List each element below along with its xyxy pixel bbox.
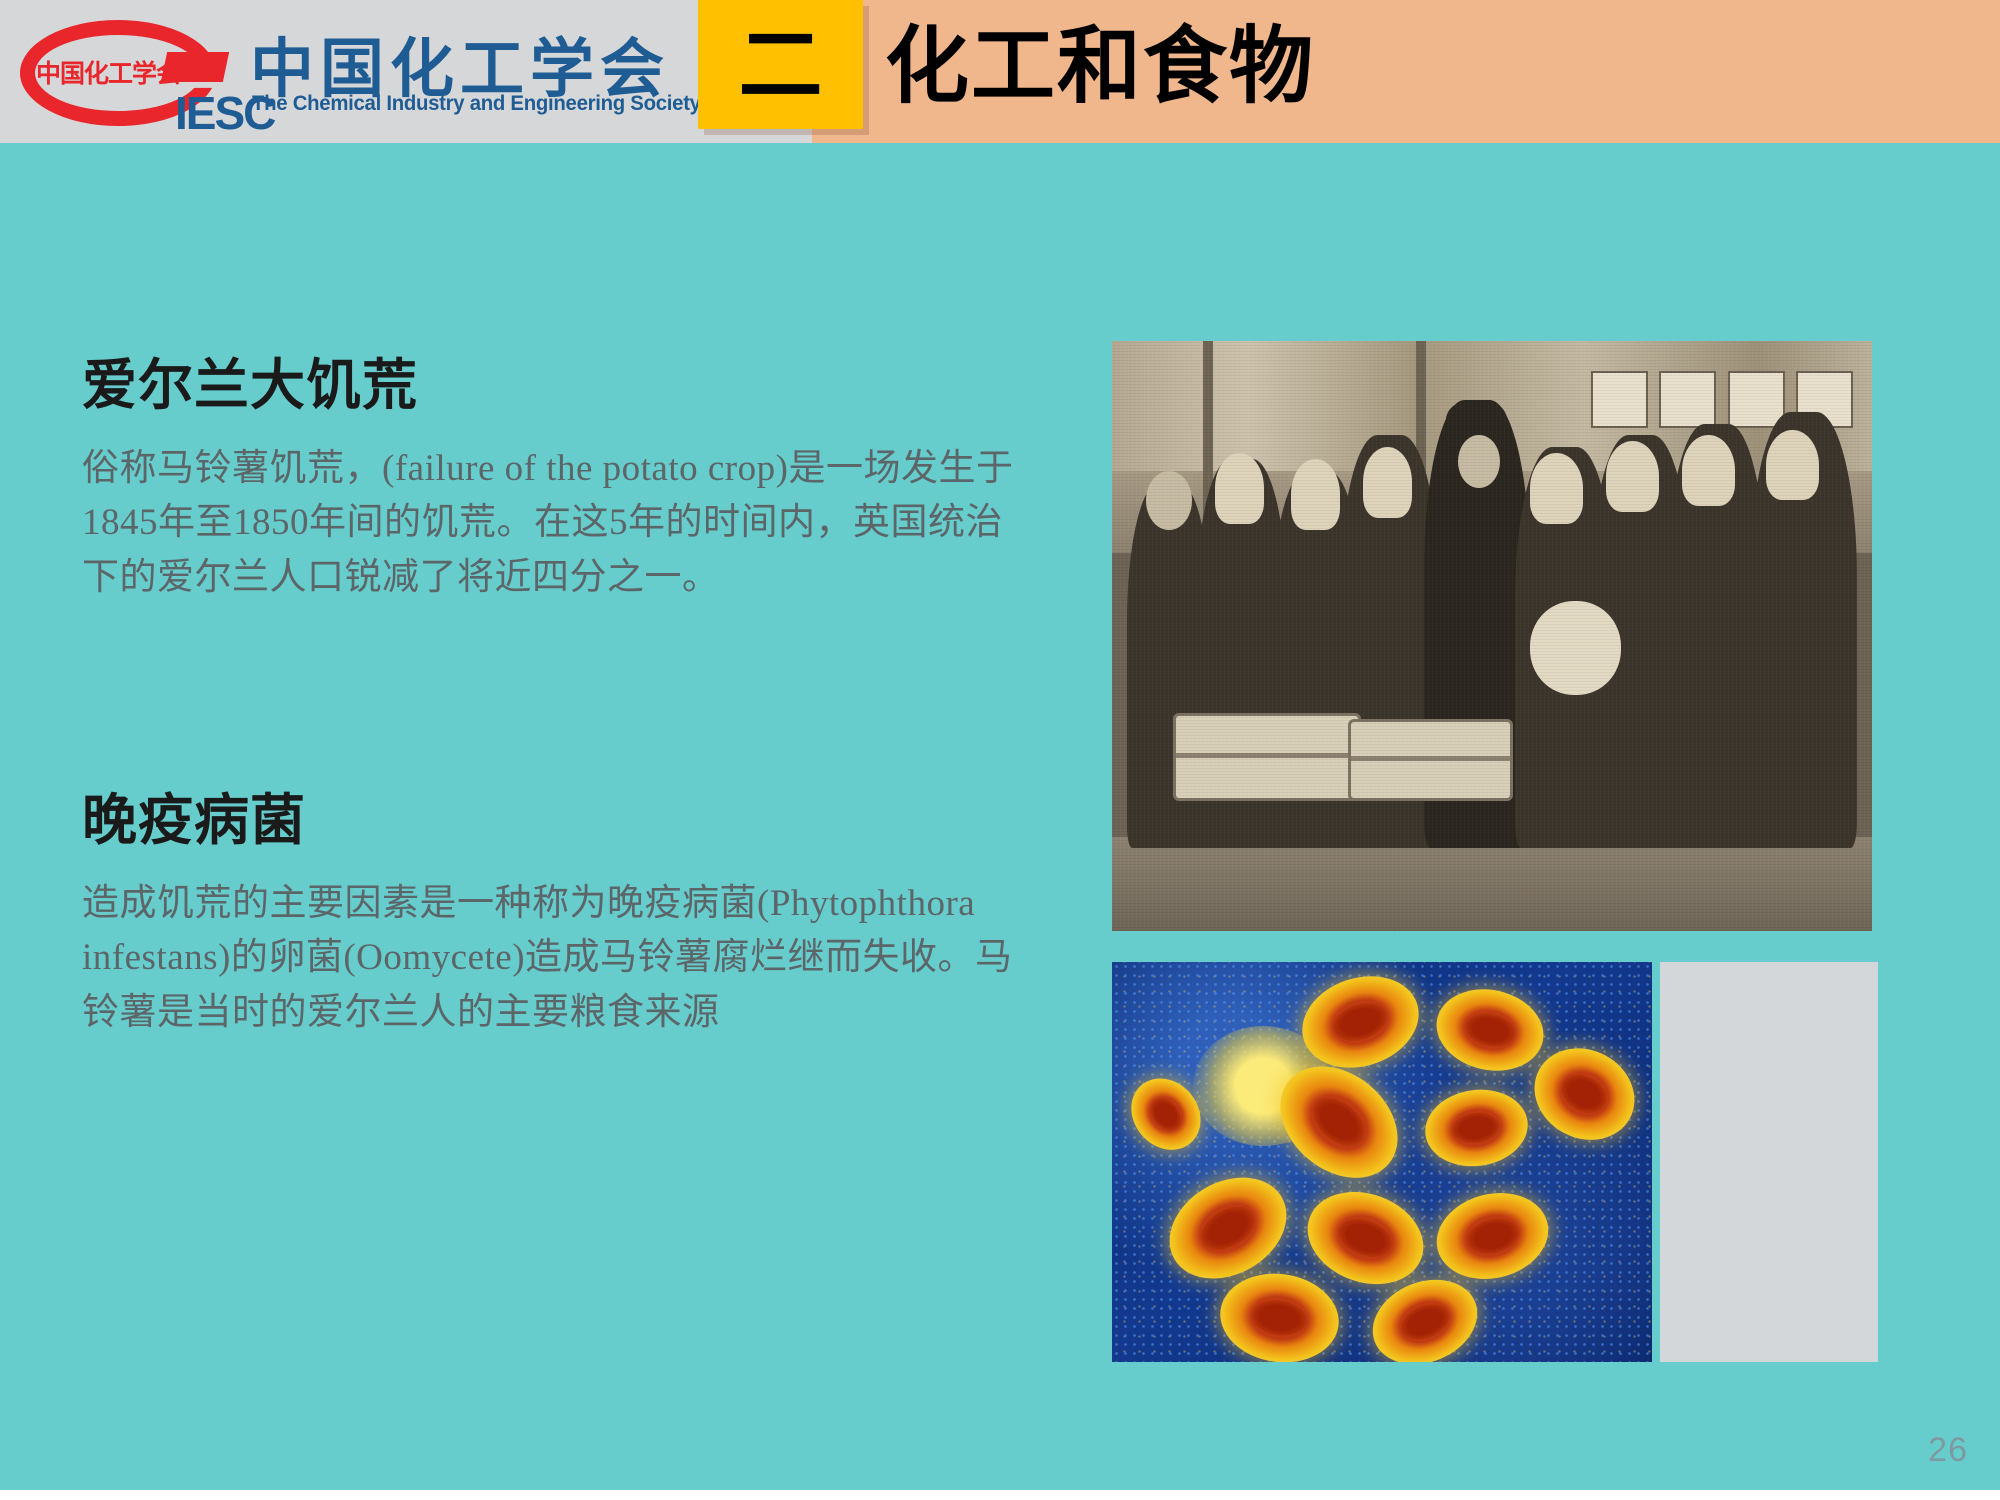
micrograph-spore-core xyxy=(1463,1213,1522,1258)
section-heading: 爱尔兰大饥荒 xyxy=(82,355,1042,416)
micrograph-spore-core xyxy=(1304,1088,1374,1156)
chapter-number-box: 二 xyxy=(698,0,863,129)
page-title: 化工和食物 xyxy=(885,14,1315,119)
irish-famine-emigrants-photo xyxy=(1112,341,1872,931)
section-heading: 晚疫病菌 xyxy=(82,790,1042,851)
micrograph-spore-core xyxy=(1451,1110,1502,1147)
bottom-white-strip xyxy=(0,1490,2000,1500)
slide: 中国化工学会 IESC 中国化工学会 The Chemical Industry… xyxy=(0,0,2000,1500)
society-logo-plate: 中国化工学会 IESC 中国化工学会 The Chemical Industry… xyxy=(0,0,812,143)
empty-placeholder-box xyxy=(1660,962,1878,1362)
section-body-text: 俗称马铃薯饥荒，(failure of the potato crop)是一场发… xyxy=(82,442,1027,606)
phytophthora-micrograph xyxy=(1112,962,1652,1362)
micrograph-spore-core xyxy=(1334,1212,1397,1264)
micrograph-spore-core xyxy=(1329,997,1392,1047)
section-irish-famine: 爱尔兰大饥荒 俗称马铃薯饥荒，(failure of the potato cr… xyxy=(82,355,1042,606)
section-late-blight: 晚疫病菌 造成饥荒的主要因素是一种称为晚疫病菌(Phytophthora inf… xyxy=(82,790,1042,1041)
section-body-text: 造成饥荒的主要因素是一种称为晚疫病菌(Phytophthora infestan… xyxy=(82,877,1027,1041)
micrograph-spore-core xyxy=(1250,1297,1309,1339)
micrograph-spore-core xyxy=(1396,1298,1454,1346)
micrograph-spore-core xyxy=(1555,1067,1613,1120)
micrograph-spore-core xyxy=(1145,1092,1187,1135)
page-number: 26 xyxy=(1928,1431,1968,1470)
photo-film-grain xyxy=(1112,341,1872,931)
micrograph-spore-core xyxy=(1194,1198,1262,1258)
logo-badge-text: 中国化工学会 xyxy=(36,54,196,90)
micrograph-spore-core xyxy=(1462,1009,1517,1051)
chapter-number: 二 xyxy=(698,0,863,129)
header-band: 中国化工学会 IESC 中国化工学会 The Chemical Industry… xyxy=(0,0,2000,143)
